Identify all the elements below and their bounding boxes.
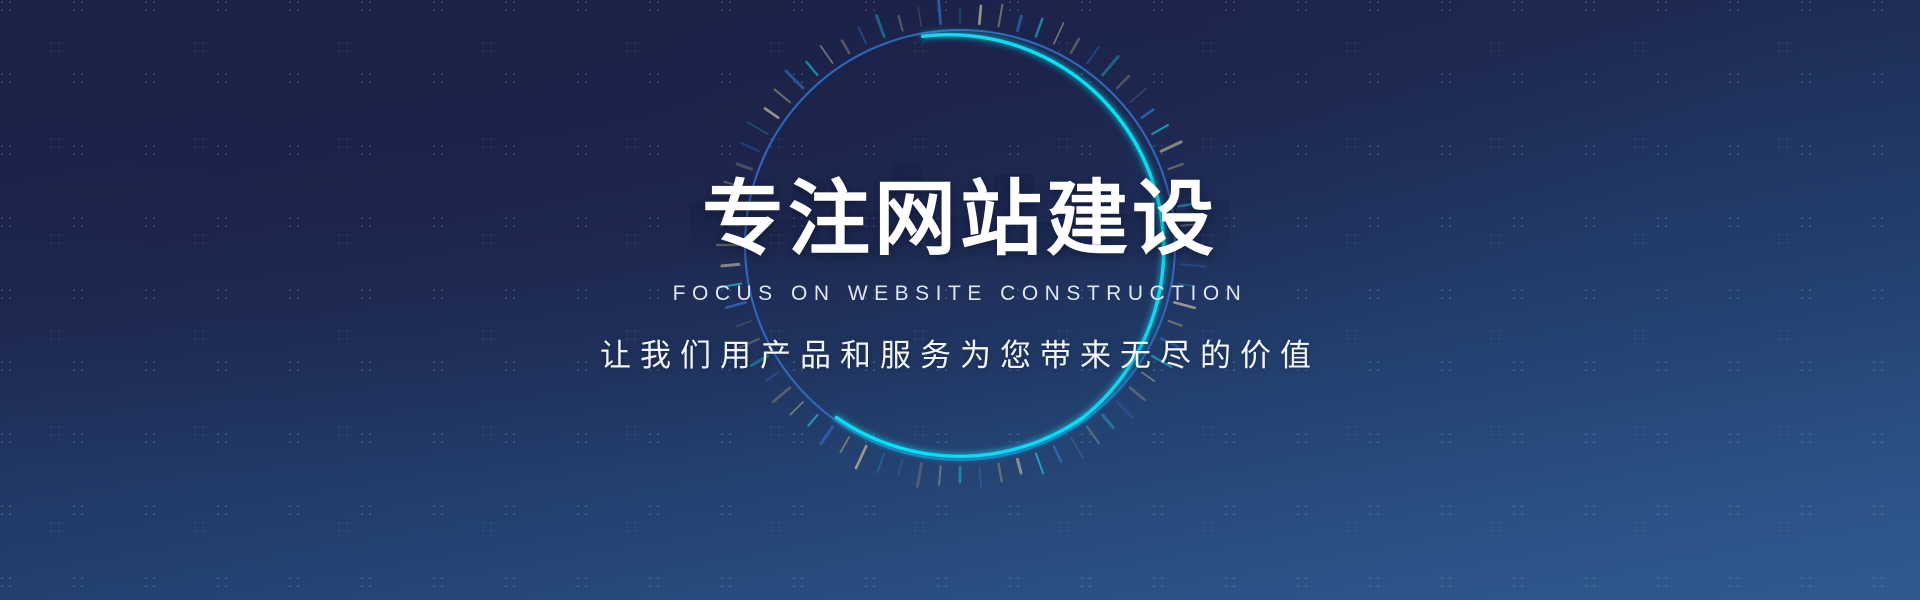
radial-tick-mark [765, 108, 778, 117]
radial-tick-mark [1071, 437, 1083, 458]
radial-tick-mark [1130, 89, 1146, 103]
radial-tick-mark [1036, 19, 1043, 37]
radial-tick-mark [821, 46, 833, 63]
radial-tick-mark [786, 71, 803, 88]
radial-tick-mark [790, 402, 803, 415]
radial-tick-mark [1103, 415, 1113, 427]
radial-tick-mark [748, 123, 768, 135]
radial-tick-mark [918, 8, 921, 27]
radial-tick-mark [1117, 76, 1129, 88]
radial-tick-mark [939, 466, 941, 485]
radial-tick-mark [821, 427, 833, 444]
radial-tick-mark [841, 437, 850, 452]
radial-tick-mark [1017, 16, 1021, 30]
page-title: 专注网站建设 [0, 178, 1920, 262]
radial-tick-mark [917, 464, 921, 487]
radial-tick-mark [1087, 427, 1098, 443]
radial-tick-mark [1117, 402, 1133, 418]
radial-tick-mark [877, 16, 885, 37]
radial-tick-mark [859, 27, 867, 43]
radial-tick-mark [775, 89, 790, 102]
radial-tick-mark [1169, 164, 1183, 169]
banner-tagline: 让我们用产品和服务为您带来无尽的价值 [0, 330, 1920, 375]
radial-tick-mark [1036, 454, 1043, 474]
radial-tick-mark [1054, 446, 1061, 461]
hero-banner: 专注网站建设 FOCUS ON WEBSITE CONSTRUCTION 让我们… [0, 0, 1920, 600]
radial-tick-mark [808, 415, 817, 426]
radial-tick-mark [999, 464, 1002, 482]
banner-text-block: 专注网站建设 FOCUS ON WEBSITE CONSTRUCTION 让我们… [0, 178, 1920, 375]
radial-tick-mark [999, 5, 1003, 27]
radial-tick-mark [1017, 459, 1021, 473]
radial-tick-mark [1103, 57, 1118, 75]
radial-tick-mark [979, 6, 981, 24]
radial-tick-mark [842, 41, 849, 53]
radial-tick-mark [1161, 142, 1181, 151]
radial-tick-mark [877, 454, 884, 473]
radial-tick-mark [899, 16, 903, 30]
radial-tick-mark [898, 459, 902, 474]
radial-tick-mark [1130, 388, 1145, 400]
radial-tick-mark [806, 62, 817, 75]
radial-tick-mark [737, 164, 751, 169]
radial-tick-mark [1071, 39, 1079, 53]
radial-tick-mark [1054, 23, 1064, 44]
radial-tick-mark [1152, 125, 1168, 134]
radial-tick-mark [856, 446, 866, 468]
radial-tick-mark [979, 466, 981, 488]
radial-tick-mark [1142, 110, 1153, 118]
radial-tick-mark [742, 143, 759, 151]
banner-subtitle-english: FOCUS ON WEBSITE CONSTRUCTION [0, 282, 1920, 306]
ring-highlight-arc-secondary [836, 417, 1083, 456]
radial-tick-mark [1087, 47, 1098, 63]
radial-tick-mark [939, 1, 941, 24]
radial-tick-mark [773, 388, 790, 402]
